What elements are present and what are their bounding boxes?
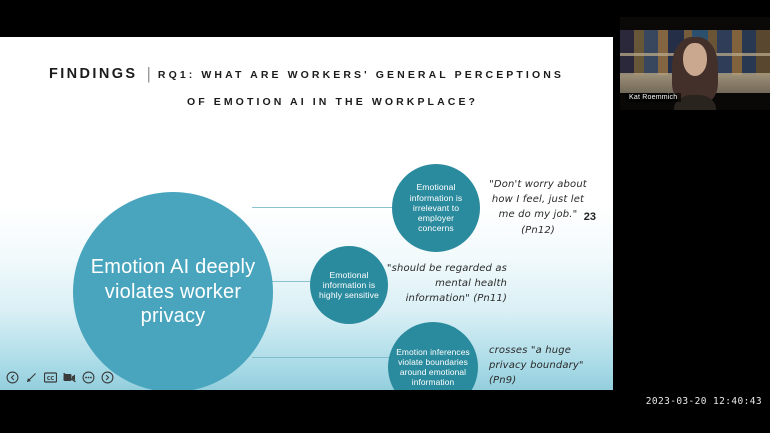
more-options-button[interactable] <box>82 371 95 384</box>
player-control-bar: CC <box>0 364 110 390</box>
subtheme-circle-2: Emotional information is highly sensitiv… <box>310 246 388 324</box>
slide-section-label: FINDINGS <box>49 66 137 82</box>
subtheme-circle-3: Emotion inferences violate boundaries ar… <box>388 322 478 390</box>
slide-title: FINDINGS|RQ1: WHAT ARE WORKERS' GENERAL … <box>0 64 613 109</box>
main-theme-circle: Emotion AI deeply violates worker privac… <box>73 192 273 390</box>
title-divider: | <box>146 65 150 82</box>
slide-number: 23 <box>584 211 596 223</box>
participant-quote-3: crosses "a huge privacy boundary" (Pn9) <box>489 343 601 389</box>
main-theme-label: Emotion AI deeply violates worker privac… <box>73 255 273 328</box>
participant-name-label: Kat Roemmich <box>625 93 681 102</box>
connector-line-to-subtheme-1 <box>252 207 412 208</box>
participant-quote-1: "Don't worry about how I feel, just let … <box>486 177 590 238</box>
subtheme-label-1: Emotional information is irrelevant to e… <box>392 182 480 234</box>
subtheme-label-2: Emotional information is highly sensitiv… <box>310 270 388 301</box>
recording-timestamp: 2023-03-20 12:40:43 <box>646 396 762 407</box>
next-slide-button[interactable] <box>101 371 114 384</box>
subtheme-label-3: Emotion inferences violate boundaries ar… <box>388 347 478 387</box>
participant-quote-2: "should be regarded as mental health inf… <box>383 261 507 307</box>
previous-slide-button[interactable] <box>6 371 19 384</box>
presentation-slide: FINDINGS|RQ1: WHAT ARE WORKERS' GENERAL … <box>0 37 613 390</box>
annotate-button[interactable] <box>25 371 38 384</box>
research-question-line-2: OF EMOTION AI IN THE WORKPLACE? <box>187 96 478 108</box>
slide-title-line-1: FINDINGS|RQ1: WHAT ARE WORKERS' GENERAL … <box>0 64 613 82</box>
svg-text:CC: CC <box>47 375 55 381</box>
subtheme-circle-1: Emotional information is irrelevant to e… <box>392 164 480 252</box>
participant-video-tile[interactable]: Kat Roemmich <box>620 17 770 110</box>
stop-video-button[interactable] <box>63 371 76 384</box>
video-player-screen: FINDINGS|RQ1: WHAT ARE WORKERS' GENERAL … <box>0 0 770 433</box>
research-question-line-1: RQ1: WHAT ARE WORKERS' GENERAL PERCEPTIO… <box>158 69 564 81</box>
captions-button[interactable]: CC <box>44 371 57 384</box>
slide-title-line-2: OF EMOTION AI IN THE WORKPLACE? <box>0 93 613 109</box>
